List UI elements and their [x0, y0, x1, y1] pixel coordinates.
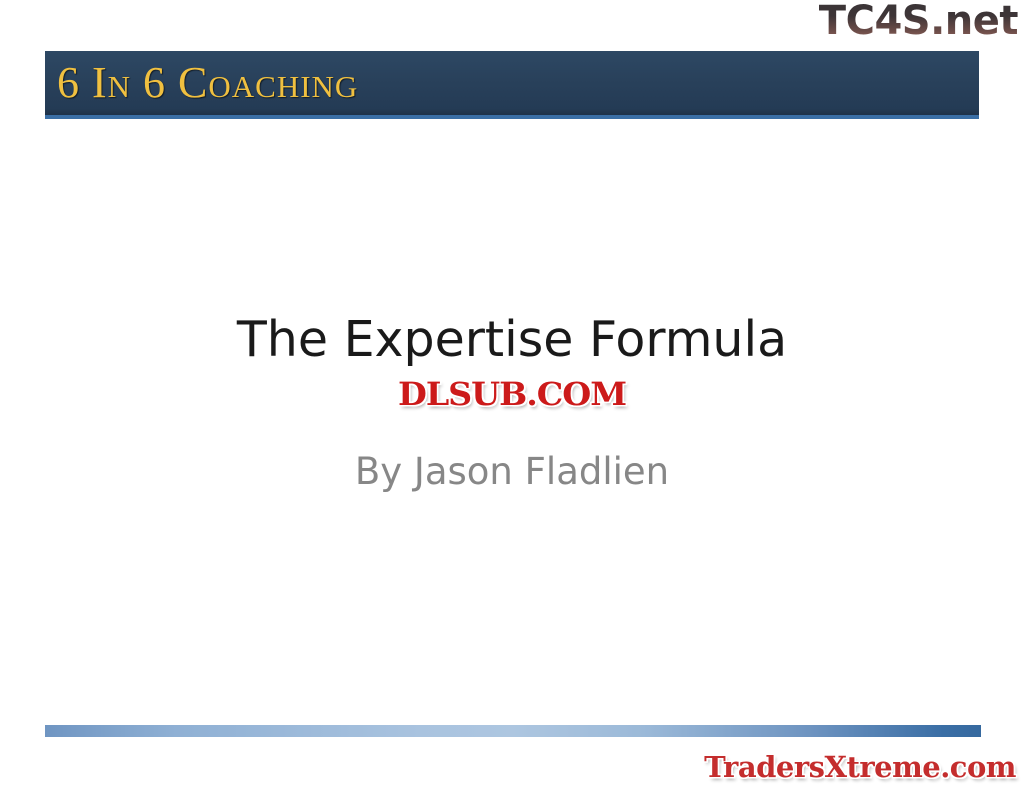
watermark-tc4s: TC4S.net [819, 0, 1018, 43]
footer-accent-bar [45, 725, 981, 737]
slide-header-banner: 6 In 6 Coaching [45, 51, 979, 119]
header-banner-title: 6 In 6 Coaching [57, 55, 358, 111]
page-title: The Expertise Formula [0, 310, 1024, 370]
presentation-slide: TC4S.net 6 In 6 Coaching The Expertise F… [0, 0, 1024, 791]
watermark-tradersxtreme: TradersXtreme.com [704, 748, 1016, 786]
page-subtitle: By Jason Fladlien [0, 448, 1024, 496]
watermark-dlsub: DLSUB.COM [0, 374, 1024, 414]
